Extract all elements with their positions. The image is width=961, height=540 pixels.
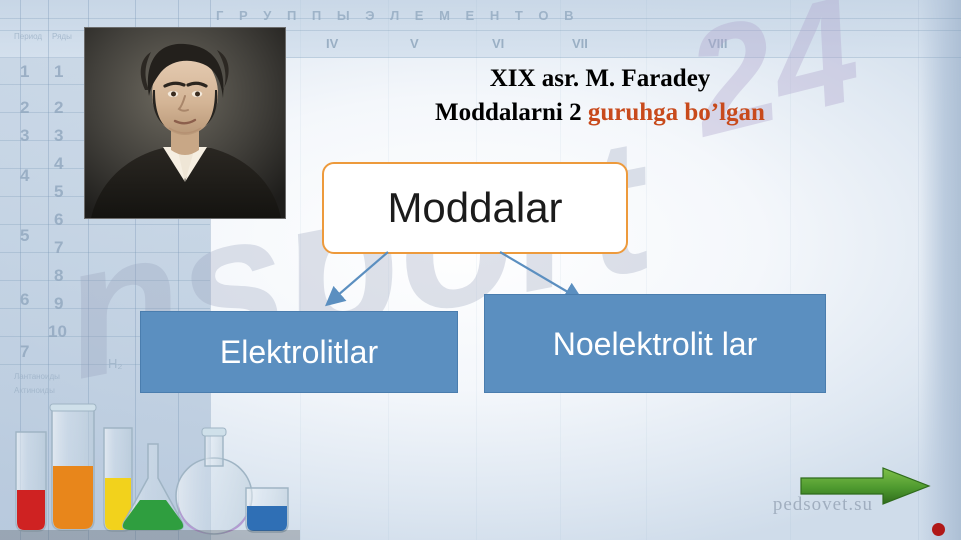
slide-canvas: Г Р У П П Ы Э Л Е М Е Н Т О В IV V VI VI… [0, 0, 961, 540]
node-elektrolitlar-label: Elektrolitlar [212, 332, 386, 372]
connector-left [330, 252, 388, 302]
arrow-right-icon [801, 468, 929, 504]
connector-right [500, 252, 578, 298]
node-noelektrolitlar[interactable]: Noelektrolit lar [484, 294, 826, 393]
node-noelektrolitlar-label: Noelektrolit lar [545, 324, 766, 364]
recording-indicator-dot [932, 523, 945, 536]
next-slide-arrow-button[interactable] [799, 466, 931, 506]
chemistry-flasks-image [0, 370, 300, 540]
